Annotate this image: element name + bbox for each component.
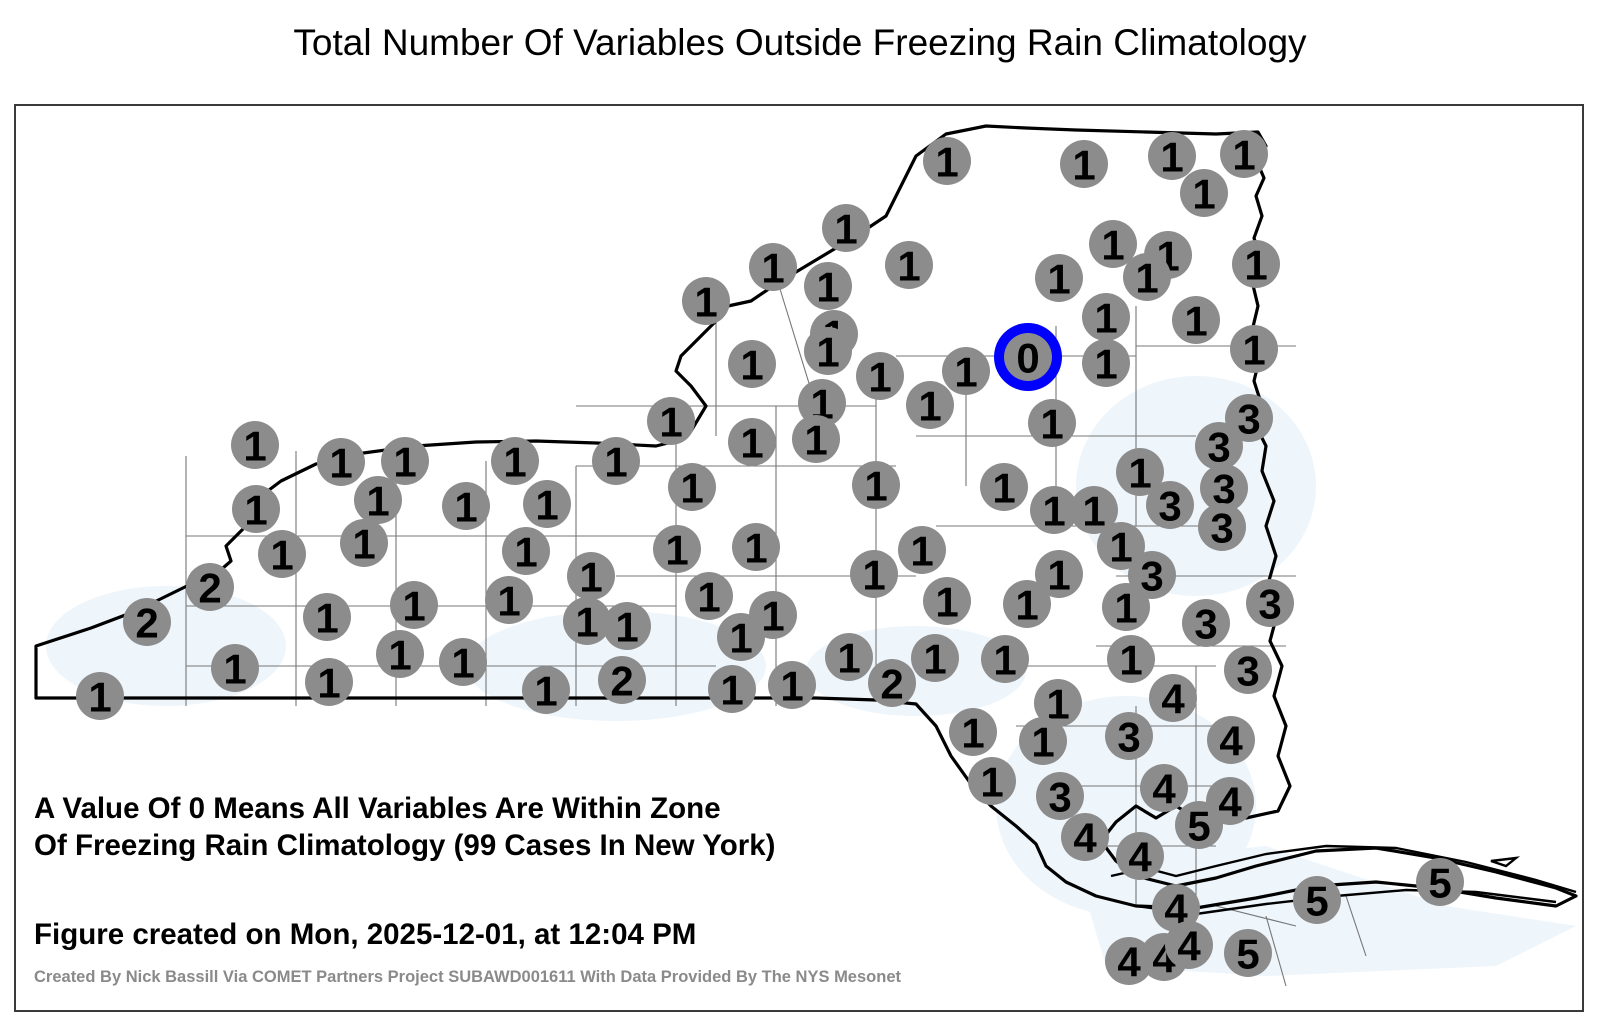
station-marker[interactable]: 1 bbox=[1082, 293, 1130, 342]
station-marker[interactable]: 1 bbox=[804, 327, 852, 376]
marker-value: 1 bbox=[329, 440, 352, 487]
station-marker[interactable]: 1 bbox=[211, 644, 259, 693]
station-marker[interactable]: 2 bbox=[123, 598, 171, 647]
marker-value: 3 bbox=[1236, 648, 1259, 695]
marker-value: 1 bbox=[740, 342, 763, 389]
station-marker[interactable]: 1 bbox=[1172, 296, 1220, 345]
page-title: Total Number Of Variables Outside Freezi… bbox=[0, 22, 1600, 64]
marker-value: 1 bbox=[393, 439, 416, 486]
station-marker[interactable]: 2 bbox=[186, 563, 234, 612]
marker-value: 1 bbox=[1192, 171, 1215, 218]
station-marker[interactable]: 1 bbox=[567, 552, 615, 601]
station-marker[interactable]: 1 bbox=[1220, 130, 1268, 179]
station-marker[interactable]: 1 bbox=[76, 672, 124, 721]
marker-value: 1 bbox=[451, 640, 474, 687]
station-marker[interactable]: 1 bbox=[942, 347, 990, 396]
station-marker[interactable]: 1 bbox=[1028, 399, 1076, 448]
station-marker[interactable]: 3 bbox=[1105, 712, 1153, 761]
marker-value: 1 bbox=[1242, 327, 1265, 374]
marker-value: 1 bbox=[780, 663, 803, 710]
marker-value: 3 bbox=[1207, 424, 1230, 471]
marker-value: 1 bbox=[503, 439, 526, 486]
marker-value: 1 bbox=[402, 583, 425, 630]
marker-value: 1 bbox=[535, 482, 558, 529]
station-marker[interactable]: 1 bbox=[523, 480, 571, 529]
station-marker[interactable]: 1 bbox=[340, 519, 388, 568]
station-marker[interactable]: 1 bbox=[376, 630, 424, 679]
marker-value: 3 bbox=[1210, 505, 1233, 552]
marker-value: 1 bbox=[315, 595, 338, 642]
marker-value: 1 bbox=[993, 637, 1016, 684]
marker-value: 3 bbox=[1194, 601, 1217, 648]
station-marker[interactable]: 1 bbox=[317, 438, 365, 487]
figure-date-text: Figure created on Mon, 2025-12-01, at 12… bbox=[34, 918, 696, 952]
marker-value: 1 bbox=[897, 243, 920, 290]
station-marker[interactable]: 1 bbox=[1230, 325, 1278, 374]
marker-value: 1 bbox=[694, 279, 717, 326]
station-marker[interactable]: 4 bbox=[1116, 832, 1164, 881]
station-marker[interactable]: 1 bbox=[728, 340, 776, 389]
marker-value: 1 bbox=[837, 635, 860, 682]
station-marker[interactable]: 3 bbox=[1036, 772, 1084, 821]
station-marker[interactable]: 1 bbox=[491, 437, 539, 486]
station-marker[interactable]: 1 bbox=[968, 757, 1016, 806]
station-marker[interactable]: 1 bbox=[856, 352, 904, 401]
marker-value: 1 bbox=[615, 604, 638, 651]
station-marker[interactable]: 1 bbox=[728, 418, 776, 467]
marker-value: 1 bbox=[864, 463, 887, 510]
marker-value: 2 bbox=[135, 600, 158, 647]
marker-value: 1 bbox=[1114, 585, 1137, 632]
station-marker[interactable]: 1 bbox=[792, 415, 840, 464]
station-marker[interactable]: 5 bbox=[1175, 801, 1223, 850]
station-marker[interactable]: 1 bbox=[685, 572, 733, 621]
marker-value: 1 bbox=[961, 710, 984, 757]
marker-value: 1 bbox=[575, 599, 598, 646]
station-marker[interactable]: 1 bbox=[1060, 140, 1108, 189]
station-marker[interactable]: 1 bbox=[305, 658, 353, 707]
marker-value: 1 bbox=[1042, 488, 1065, 535]
marker-value: 4 bbox=[1117, 939, 1141, 986]
marker-value: 1 bbox=[1128, 450, 1151, 497]
station-marker[interactable]: 4 bbox=[1207, 716, 1255, 765]
station-marker[interactable]: 1 bbox=[592, 437, 640, 486]
station-marker[interactable]: 1 bbox=[923, 137, 971, 186]
station-marker[interactable]: 1 bbox=[1082, 339, 1130, 388]
marker-value: 1 bbox=[740, 420, 763, 467]
marker-value: 1 bbox=[659, 399, 682, 446]
marker-value: 1 bbox=[388, 632, 411, 679]
station-marker[interactable]: 1 bbox=[980, 463, 1028, 512]
marker-value: 1 bbox=[935, 139, 958, 186]
station-marker[interactable]: 1 bbox=[885, 241, 933, 290]
station-marker[interactable]: 1 bbox=[717, 613, 765, 662]
marker-value: 1 bbox=[1015, 582, 1038, 629]
marker-value: 2 bbox=[198, 565, 221, 612]
marker-value: 1 bbox=[729, 615, 752, 662]
station-marker[interactable]: 4 bbox=[1061, 813, 1109, 862]
marker-value: 1 bbox=[910, 528, 933, 575]
marker-value: 1 bbox=[980, 759, 1003, 806]
station-marker[interactable]: 5 bbox=[1293, 876, 1341, 925]
marker-value: 1 bbox=[1232, 132, 1255, 179]
station-marker-layer: 1111111111111111111101111111131111111133… bbox=[16, 106, 1584, 1012]
station-marker[interactable]: 1 bbox=[502, 527, 550, 576]
station-marker[interactable]: 1 bbox=[668, 463, 716, 512]
station-marker[interactable]: 1 bbox=[653, 525, 701, 574]
station-marker[interactable]: 1 bbox=[1003, 580, 1051, 629]
station-marker[interactable]: 3 bbox=[1182, 599, 1230, 648]
station-marker[interactable]: 1 bbox=[1232, 240, 1280, 289]
station-marker[interactable]: 1 bbox=[1102, 583, 1150, 632]
station-marker[interactable]: 5 bbox=[1416, 858, 1464, 907]
marker-value: 1 bbox=[1094, 341, 1117, 388]
station-marker[interactable]: 1 bbox=[231, 421, 279, 470]
marker-value: 1 bbox=[804, 417, 827, 464]
station-marker[interactable]: 1 bbox=[1180, 169, 1228, 218]
marker-value: 4 bbox=[1128, 834, 1152, 881]
station-marker[interactable]: 1 bbox=[1107, 635, 1155, 684]
marker-value: 1 bbox=[244, 487, 267, 534]
marker-value: 1 bbox=[992, 465, 1015, 512]
station-marker[interactable]: 1 bbox=[303, 593, 351, 642]
station-marker[interactable]: 1 bbox=[522, 666, 570, 715]
station-marker[interactable]: 1 bbox=[825, 633, 873, 682]
marker-value: 1 bbox=[1160, 134, 1183, 181]
marker-value: 1 bbox=[579, 554, 602, 601]
station-marker[interactable]: 0 bbox=[994, 323, 1062, 391]
marker-value: 1 bbox=[1047, 256, 1070, 303]
station-marker[interactable]: 1 bbox=[232, 485, 280, 534]
marker-value: 4 bbox=[1073, 815, 1097, 862]
marker-value: 1 bbox=[1119, 637, 1142, 684]
station-marker[interactable]: 3 bbox=[1195, 422, 1243, 471]
station-marker[interactable]: 1 bbox=[822, 204, 870, 253]
marker-value: 1 bbox=[834, 206, 857, 253]
marker-value: 1 bbox=[720, 667, 743, 714]
marker-value: 1 bbox=[1101, 222, 1124, 269]
station-marker[interactable]: 1 bbox=[749, 243, 797, 292]
station-marker[interactable]: 1 bbox=[603, 602, 651, 651]
marker-value: 5 bbox=[1187, 803, 1210, 850]
station-marker[interactable]: 1 bbox=[354, 476, 402, 525]
marker-value: 1 bbox=[816, 264, 839, 311]
marker-value: 1 bbox=[1094, 295, 1117, 342]
marker-value: 3 bbox=[1048, 774, 1071, 821]
marker-value: 4 bbox=[1177, 923, 1201, 970]
marker-value: 1 bbox=[954, 349, 977, 396]
station-marker[interactable]: 1 bbox=[485, 576, 533, 625]
station-marker[interactable]: 1 bbox=[804, 262, 852, 311]
marker-value: 1 bbox=[761, 593, 784, 640]
station-marker[interactable]: 1 bbox=[852, 461, 900, 510]
station-marker[interactable]: 1 bbox=[1123, 253, 1171, 302]
marker-value: 1 bbox=[935, 579, 958, 626]
station-marker[interactable]: 1 bbox=[258, 530, 306, 579]
station-marker[interactable]: 1 bbox=[390, 581, 438, 630]
station-marker[interactable]: 1 bbox=[898, 526, 946, 575]
station-marker[interactable]: 1 bbox=[911, 634, 959, 683]
marker-value: 1 bbox=[1082, 488, 1105, 535]
station-marker[interactable]: 1 bbox=[708, 665, 756, 714]
marker-value: 3 bbox=[1117, 714, 1140, 761]
marker-value: 0 bbox=[1016, 335, 1039, 382]
marker-value: 1 bbox=[816, 329, 839, 376]
marker-value: 2 bbox=[880, 661, 903, 708]
marker-value: 1 bbox=[454, 484, 477, 531]
station-marker[interactable]: 3 bbox=[1246, 579, 1294, 628]
marker-value: 1 bbox=[918, 383, 941, 430]
station-marker[interactable]: 1 bbox=[923, 577, 971, 626]
marker-value: 1 bbox=[1184, 298, 1207, 345]
station-marker[interactable]: 4 bbox=[1140, 764, 1188, 813]
station-marker[interactable]: 1 bbox=[682, 277, 730, 326]
station-marker[interactable]: 1 bbox=[647, 397, 695, 446]
marker-value: 4 bbox=[1152, 766, 1176, 813]
station-marker[interactable]: 1 bbox=[981, 635, 1029, 684]
marker-value: 1 bbox=[665, 527, 688, 574]
station-marker[interactable]: 2 bbox=[868, 659, 916, 708]
station-marker[interactable]: 4 bbox=[1149, 674, 1197, 723]
marker-value: 1 bbox=[243, 423, 266, 470]
marker-value: 1 bbox=[534, 668, 557, 715]
marker-value: 1 bbox=[1109, 524, 1132, 571]
station-marker[interactable]: 1 bbox=[949, 708, 997, 757]
marker-value: 5 bbox=[1236, 931, 1259, 978]
marker-value: 1 bbox=[1040, 401, 1063, 448]
station-marker[interactable]: 1 bbox=[439, 638, 487, 687]
marker-value: 4 bbox=[1161, 676, 1185, 723]
marker-value: 1 bbox=[1031, 719, 1054, 766]
credit-text: Created By Nick Bassill Via COMET Partne… bbox=[34, 968, 901, 987]
marker-value: 1 bbox=[604, 439, 627, 486]
station-marker[interactable]: 2 bbox=[598, 656, 646, 705]
marker-value: 1 bbox=[862, 552, 885, 599]
marker-value: 1 bbox=[88, 674, 111, 721]
marker-value: 1 bbox=[1244, 242, 1267, 289]
station-marker[interactable]: 1 bbox=[732, 523, 780, 572]
station-marker[interactable]: 1 bbox=[1148, 132, 1196, 181]
station-marker[interactable]: 1 bbox=[1019, 717, 1067, 766]
station-marker[interactable]: 3 bbox=[1198, 503, 1246, 552]
marker-value: 1 bbox=[317, 660, 340, 707]
marker-value: 5 bbox=[1428, 860, 1451, 907]
station-marker[interactable]: 1 bbox=[906, 381, 954, 430]
marker-value: 1 bbox=[270, 532, 293, 579]
marker-value: 1 bbox=[697, 574, 720, 621]
marker-value: 5 bbox=[1305, 878, 1328, 925]
marker-value: 1 bbox=[1047, 552, 1070, 599]
marker-value: 2 bbox=[610, 658, 633, 705]
marker-value: 1 bbox=[514, 529, 537, 576]
marker-value: 4 bbox=[1219, 718, 1243, 765]
station-marker[interactable]: 1 bbox=[768, 661, 816, 710]
station-marker[interactable]: 1 bbox=[850, 550, 898, 599]
marker-value: 1 bbox=[497, 578, 520, 625]
station-marker[interactable]: 3 bbox=[1224, 646, 1272, 695]
marker-value: 3 bbox=[1237, 396, 1260, 443]
marker-value: 1 bbox=[1135, 255, 1158, 302]
marker-value: 3 bbox=[1258, 581, 1281, 628]
marker-value: 1 bbox=[1072, 142, 1095, 189]
marker-value: 1 bbox=[223, 646, 246, 693]
marker-value: 1 bbox=[744, 525, 767, 572]
station-marker[interactable]: 5 bbox=[1224, 929, 1272, 978]
marker-value: 1 bbox=[761, 245, 784, 292]
station-marker[interactable]: 1 bbox=[442, 482, 490, 531]
marker-value: 1 bbox=[352, 521, 375, 568]
marker-value: 1 bbox=[868, 354, 891, 401]
marker-value: 1 bbox=[366, 478, 389, 525]
map-plot-frame: 1111111111111111111101111111131111111133… bbox=[14, 104, 1584, 1012]
station-marker[interactable]: 3 bbox=[1146, 481, 1194, 530]
marker-value: 1 bbox=[680, 465, 703, 512]
marker-value: 1 bbox=[923, 636, 946, 683]
station-marker[interactable]: 1 bbox=[1035, 254, 1083, 303]
marker-value: 3 bbox=[1158, 483, 1181, 530]
